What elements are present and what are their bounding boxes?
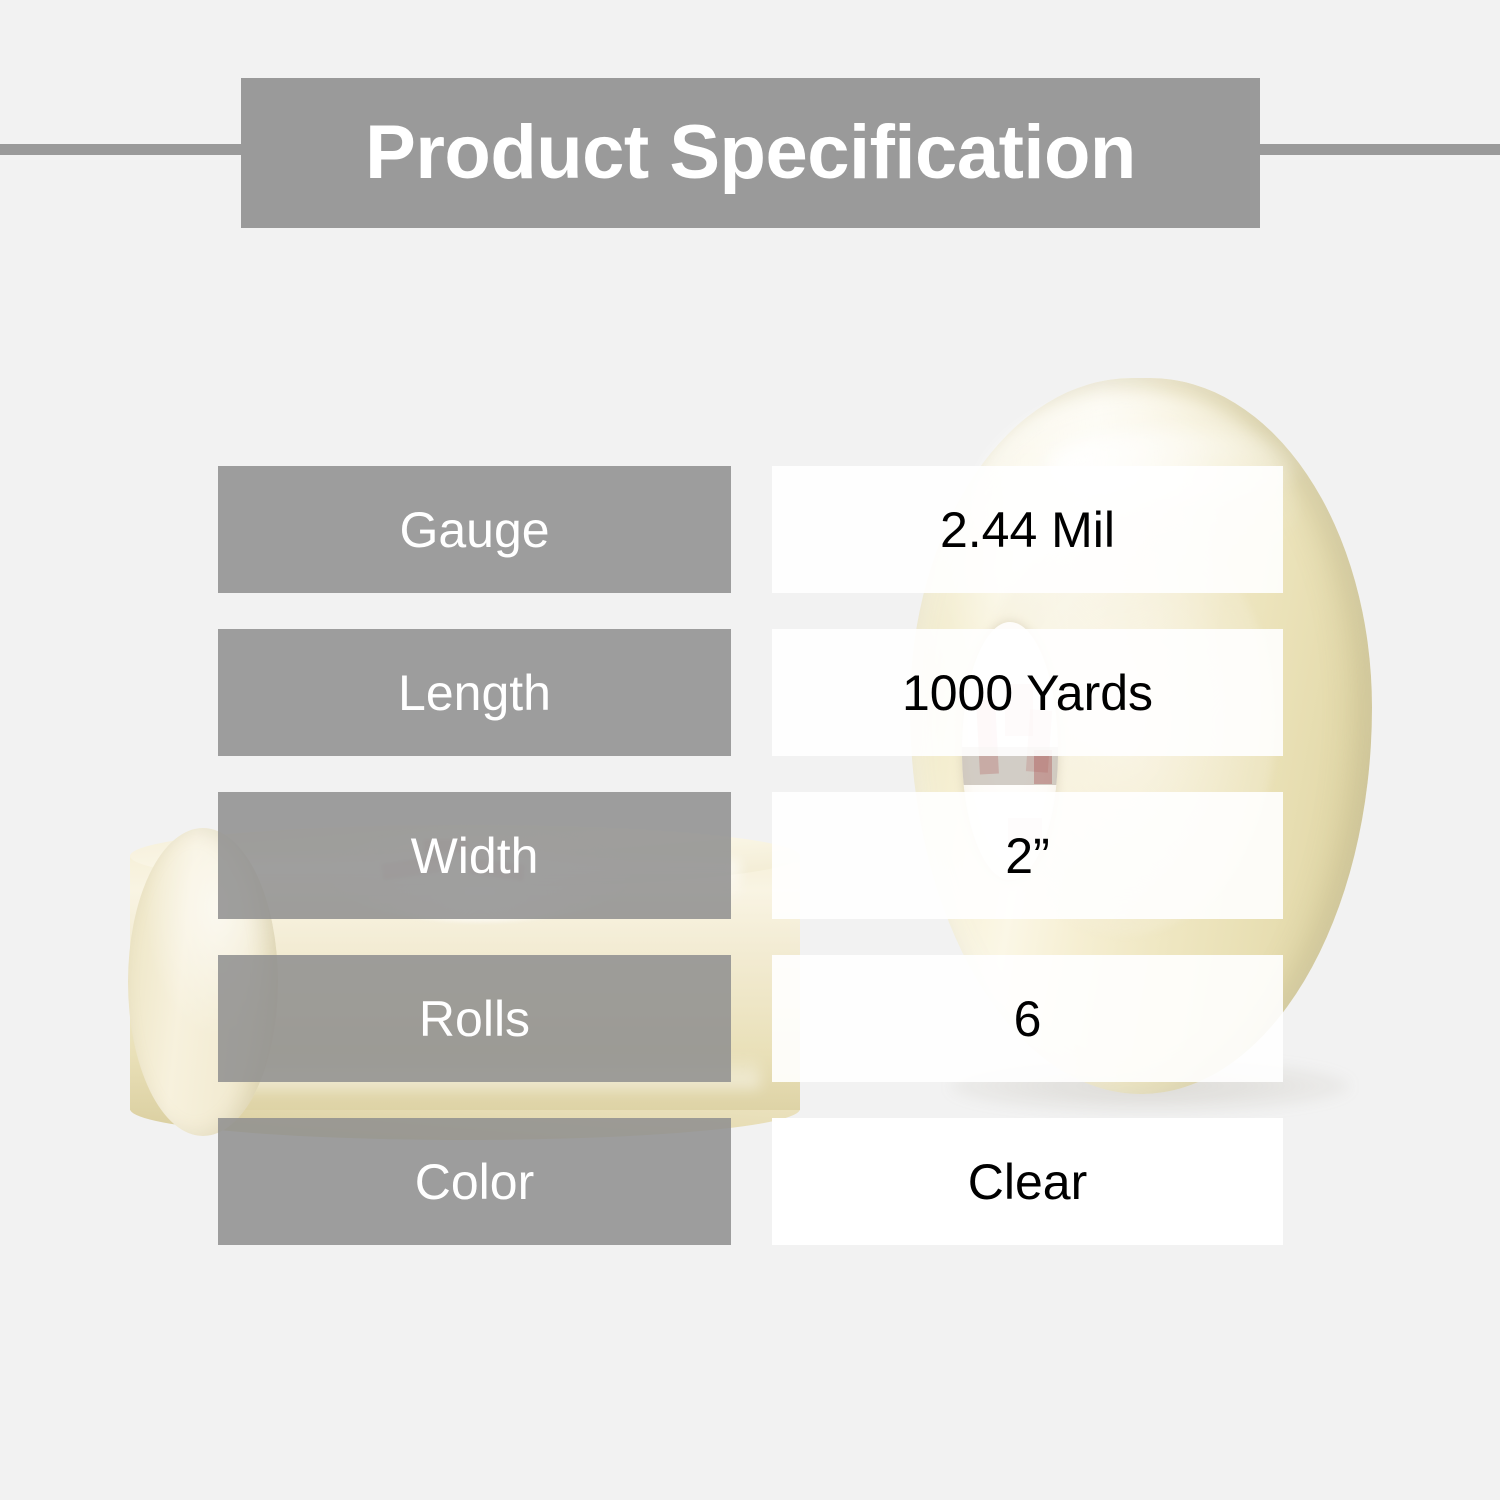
spec-value-text: 2” bbox=[1005, 831, 1049, 881]
specification-table: Gauge 2.44 Mil Length 1000 Yards Width 2… bbox=[0, 0, 1500, 1500]
spec-value-cell-gauge: 2.44 Mil bbox=[772, 466, 1283, 593]
spec-label-text: Gauge bbox=[399, 505, 549, 555]
spec-value-cell-color: Clear bbox=[772, 1118, 1283, 1245]
spec-value-text: 2.44 Mil bbox=[940, 505, 1115, 555]
spec-row-length: Length 1000 Yards bbox=[218, 629, 1283, 756]
spec-label-text: Color bbox=[415, 1157, 534, 1207]
spec-value-text: 6 bbox=[1014, 994, 1042, 1044]
spec-row-width: Width 2” bbox=[218, 792, 1283, 919]
spec-row-color: Color Clear bbox=[218, 1118, 1283, 1245]
spec-label-cell-length: Length bbox=[218, 629, 731, 756]
product-specification-page: Product Specification bbox=[0, 0, 1500, 1500]
spec-label-cell-gauge: Gauge bbox=[218, 466, 731, 593]
spec-label-cell-color: Color bbox=[218, 1118, 731, 1245]
spec-value-text: 1000 Yards bbox=[902, 668, 1153, 718]
spec-label-text: Length bbox=[398, 668, 551, 718]
spec-value-cell-width: 2” bbox=[772, 792, 1283, 919]
spec-value-cell-length: 1000 Yards bbox=[772, 629, 1283, 756]
spec-value-text: Clear bbox=[968, 1157, 1087, 1207]
spec-value-cell-rolls: 6 bbox=[772, 955, 1283, 1082]
spec-label-text: Width bbox=[411, 831, 539, 881]
spec-label-text: Rolls bbox=[419, 994, 530, 1044]
spec-label-cell-width: Width bbox=[218, 792, 731, 919]
spec-row-gauge: Gauge 2.44 Mil bbox=[218, 466, 1283, 593]
spec-row-rolls: Rolls 6 bbox=[218, 955, 1283, 1082]
spec-label-cell-rolls: Rolls bbox=[218, 955, 731, 1082]
